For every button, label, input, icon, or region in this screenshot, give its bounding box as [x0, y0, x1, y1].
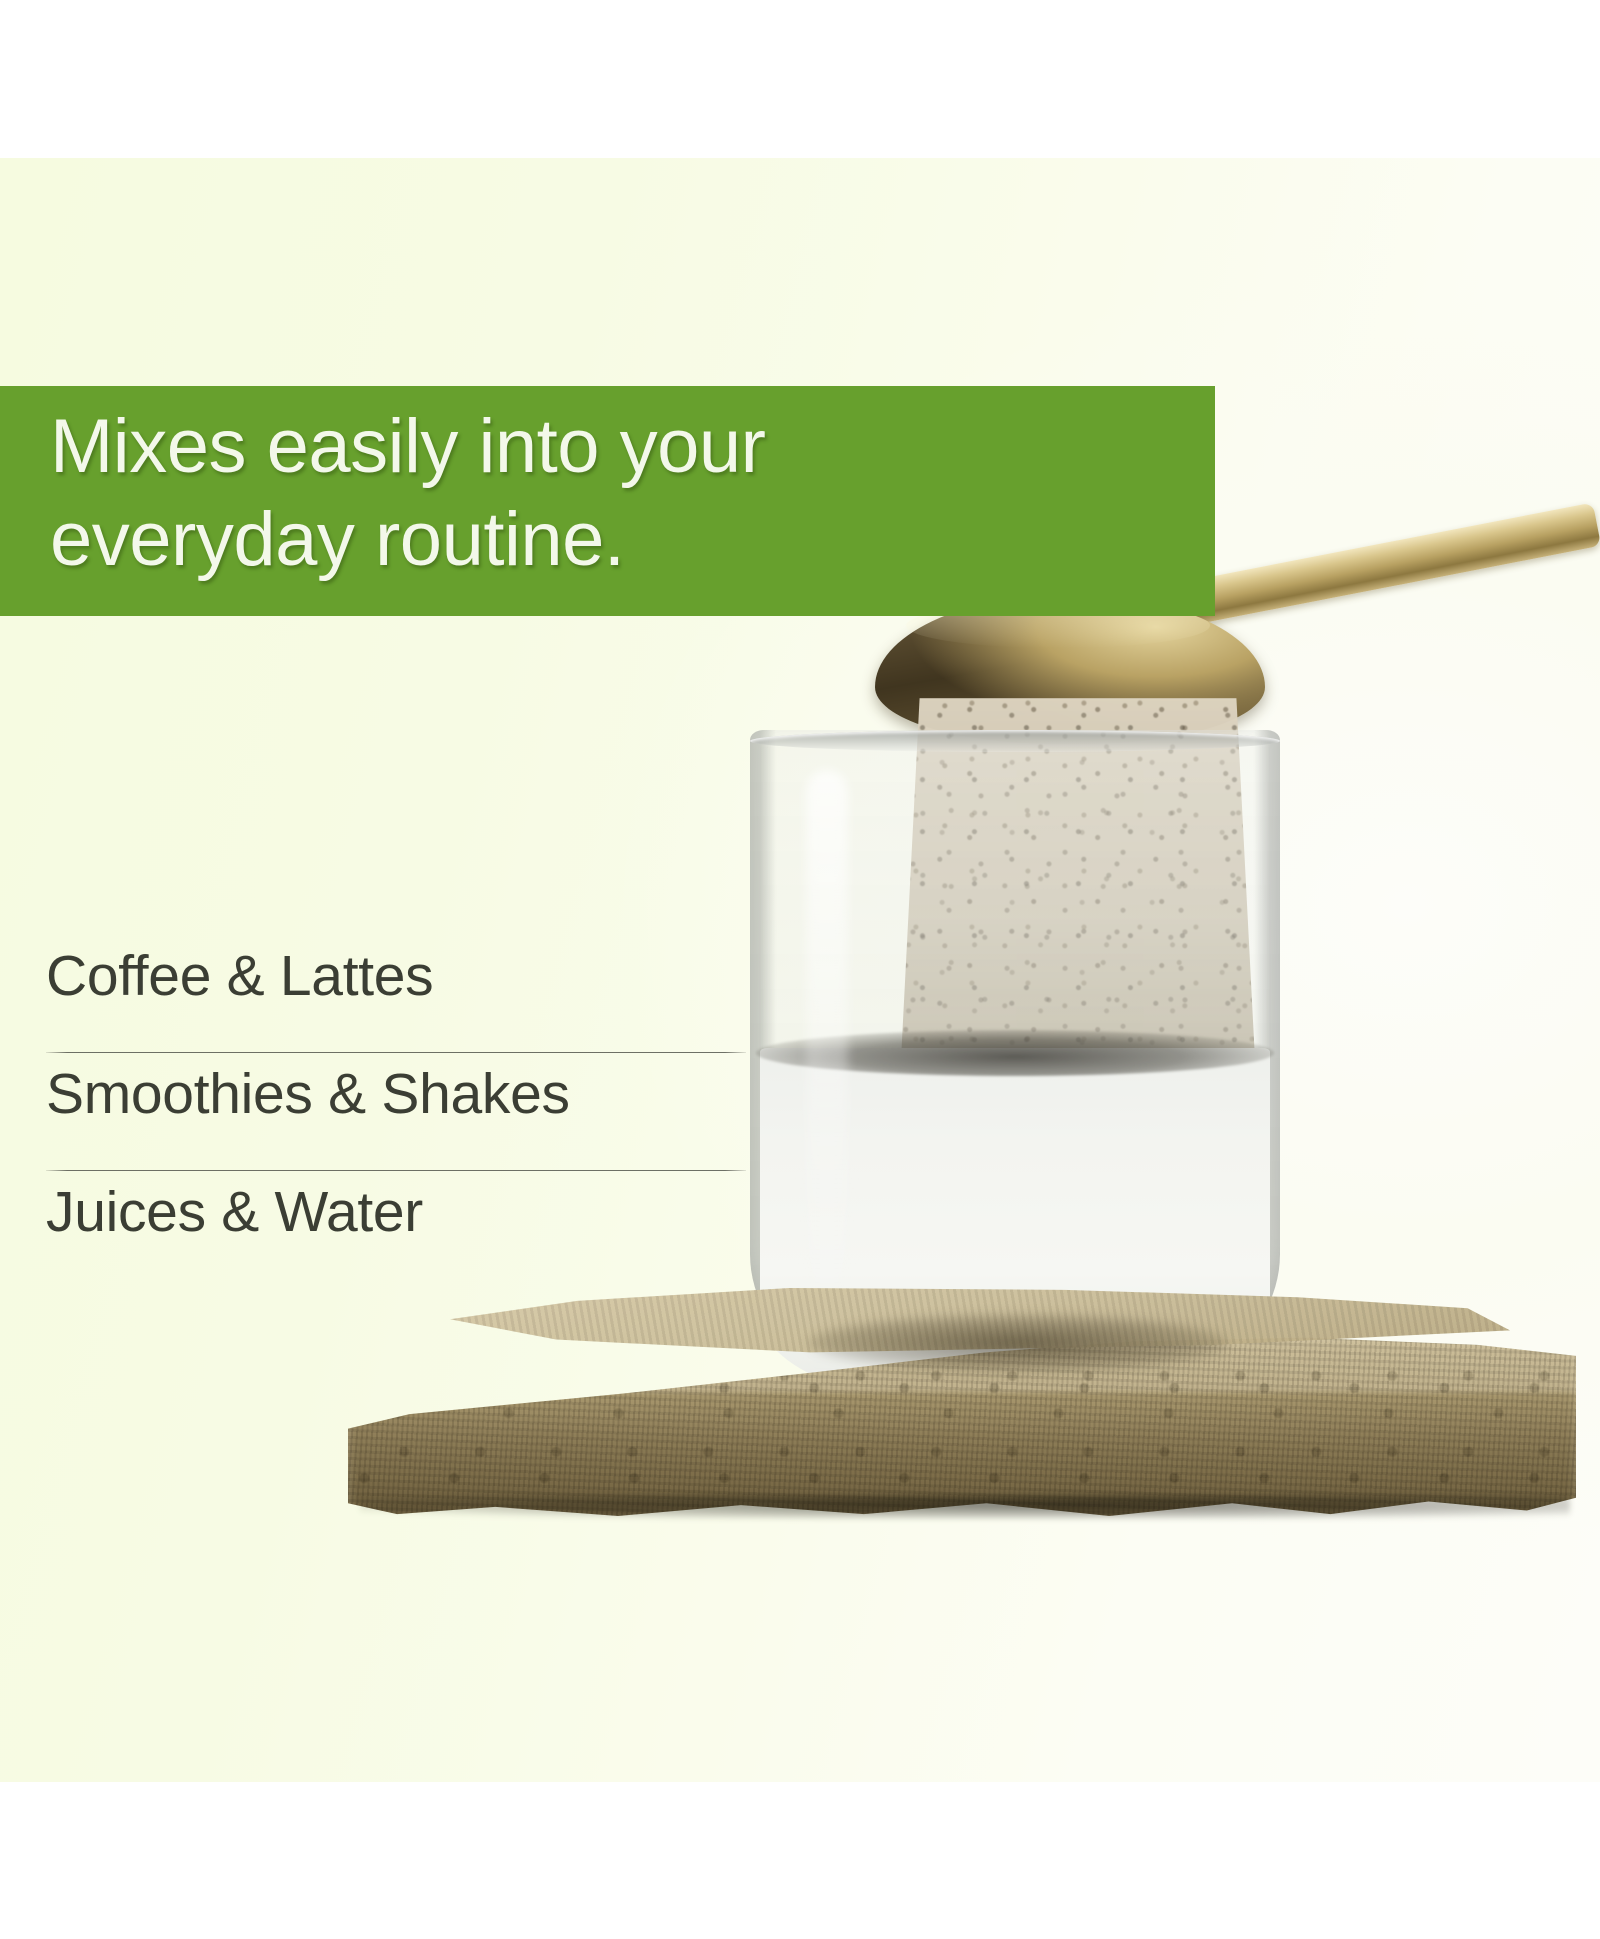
glass-contact-shadow — [808, 1314, 1228, 1372]
list-divider — [46, 1052, 746, 1053]
product-infographic: Mixes easily into your everyday routine.… — [0, 0, 1600, 1939]
spoon-handle-icon — [1161, 502, 1600, 629]
list-item: Juices & Water — [46, 1184, 746, 1302]
stone-slab — [330, 1288, 1600, 1588]
usage-list: Coffee & Lattes Smoothies & Shakes Juice… — [46, 948, 746, 1302]
slab-drop-shadow — [360, 1495, 1570, 1519]
cream-canvas: Mixes easily into your everyday routine.… — [0, 158, 1600, 1782]
headline-banner: Mixes easily into your everyday routine. — [0, 386, 1215, 616]
list-item: Coffee & Lattes — [46, 948, 746, 1066]
usage-item-label: Coffee & Lattes — [46, 948, 433, 1005]
usage-item-label: Smoothies & Shakes — [46, 1066, 570, 1123]
list-item: Smoothies & Shakes — [46, 1066, 746, 1184]
list-divider — [46, 1170, 746, 1171]
usage-item-label: Juices & Water — [46, 1184, 423, 1241]
glass-highlight — [806, 770, 848, 1370]
banner-title: Mixes easily into your everyday routine. — [50, 400, 1170, 587]
glass-rim — [750, 730, 1280, 752]
